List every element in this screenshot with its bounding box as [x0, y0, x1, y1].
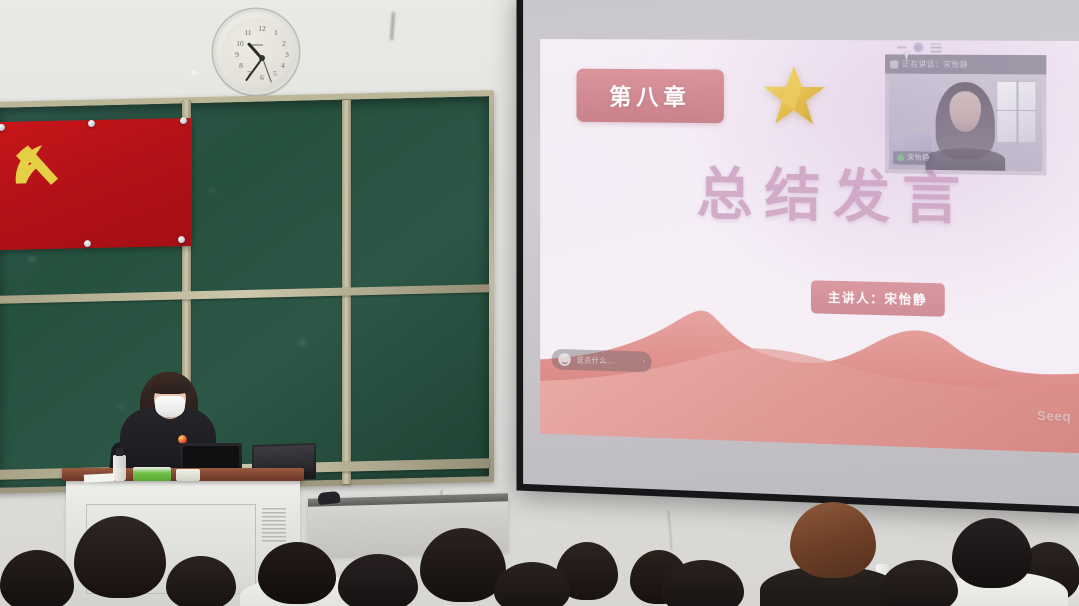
chat-send-button[interactable]: › — [643, 358, 645, 365]
presentation-slide: 第八章 总结发言 主 — [540, 39, 1079, 453]
flag-pin — [178, 236, 185, 243]
party-flag — [0, 118, 192, 250]
clock-number: 1 — [270, 29, 282, 37]
video-overlay-title: 正在讲话：宋怡静 — [902, 59, 968, 70]
clock-number: 8 — [235, 62, 247, 70]
gold-star-icon — [761, 64, 827, 129]
participant-shoulders — [925, 148, 1005, 171]
video-call-overlay[interactable]: 正在讲话：宋怡静 宋怡静 — [885, 54, 1046, 175]
slide-title: 总结发言 — [697, 167, 1039, 230]
video-feed: 宋怡静 — [889, 74, 1042, 172]
projection-screen: 第八章 总结发言 主 — [516, 0, 1079, 514]
face-mask — [155, 396, 185, 417]
participant-nametag: 宋怡静 — [893, 151, 935, 165]
menu-icon[interactable] — [931, 43, 942, 52]
slide-watermark: Seeq — [1037, 408, 1071, 424]
slide-chapter-label: 第八章 — [609, 85, 690, 111]
microphone-icon — [897, 154, 904, 161]
clock-number: 6 — [256, 74, 268, 82]
papers — [84, 473, 114, 483]
audience-head — [258, 542, 336, 604]
background-window — [996, 80, 1037, 143]
flag-pin — [84, 240, 91, 247]
speaker-icon — [890, 60, 898, 68]
clock-number: 4 — [277, 62, 289, 70]
clock-number: 9 — [231, 51, 243, 59]
clock-number: 3 — [281, 51, 293, 59]
clock-number: 11 — [242, 29, 254, 37]
participant-name: 宋怡静 — [907, 152, 929, 162]
clock-number: 12 — [256, 25, 268, 33]
flag-pin — [0, 124, 5, 131]
flag-pin — [180, 117, 187, 124]
record-icon[interactable] — [913, 42, 923, 52]
classroom-scene: 12 1 2 3 4 5 6 7 8 9 10 11 — [0, 0, 1079, 606]
projection-screen-surface: 第八章 总结发言 主 — [523, 0, 1079, 507]
slide-chapter-banner: 第八章 — [577, 69, 724, 124]
slide-chat-bar[interactable]: 说点什么... › — [552, 349, 652, 373]
clock-number: 2 — [278, 40, 290, 48]
flag-pin — [88, 120, 95, 127]
clock-number: 10 — [234, 40, 246, 48]
desk-object — [317, 491, 340, 505]
smiley-icon[interactable] — [558, 353, 570, 366]
chat-placeholder: 说点什么... — [577, 354, 615, 366]
hammer-and-sickle-icon — [8, 139, 66, 192]
hand-sanitizer-bottle — [113, 455, 126, 481]
supply-box — [176, 469, 200, 481]
minimize-icon[interactable] — [897, 47, 906, 49]
clock-face: 12 1 2 3 4 5 6 7 8 9 10 11 — [222, 18, 290, 86]
tissue-box — [133, 467, 171, 481]
podium-vent — [262, 508, 286, 542]
clock-center-pin — [259, 55, 265, 61]
clock-number: 5 — [269, 70, 281, 78]
wall-clock: 12 1 2 3 4 5 6 7 8 9 10 11 — [216, 12, 296, 92]
